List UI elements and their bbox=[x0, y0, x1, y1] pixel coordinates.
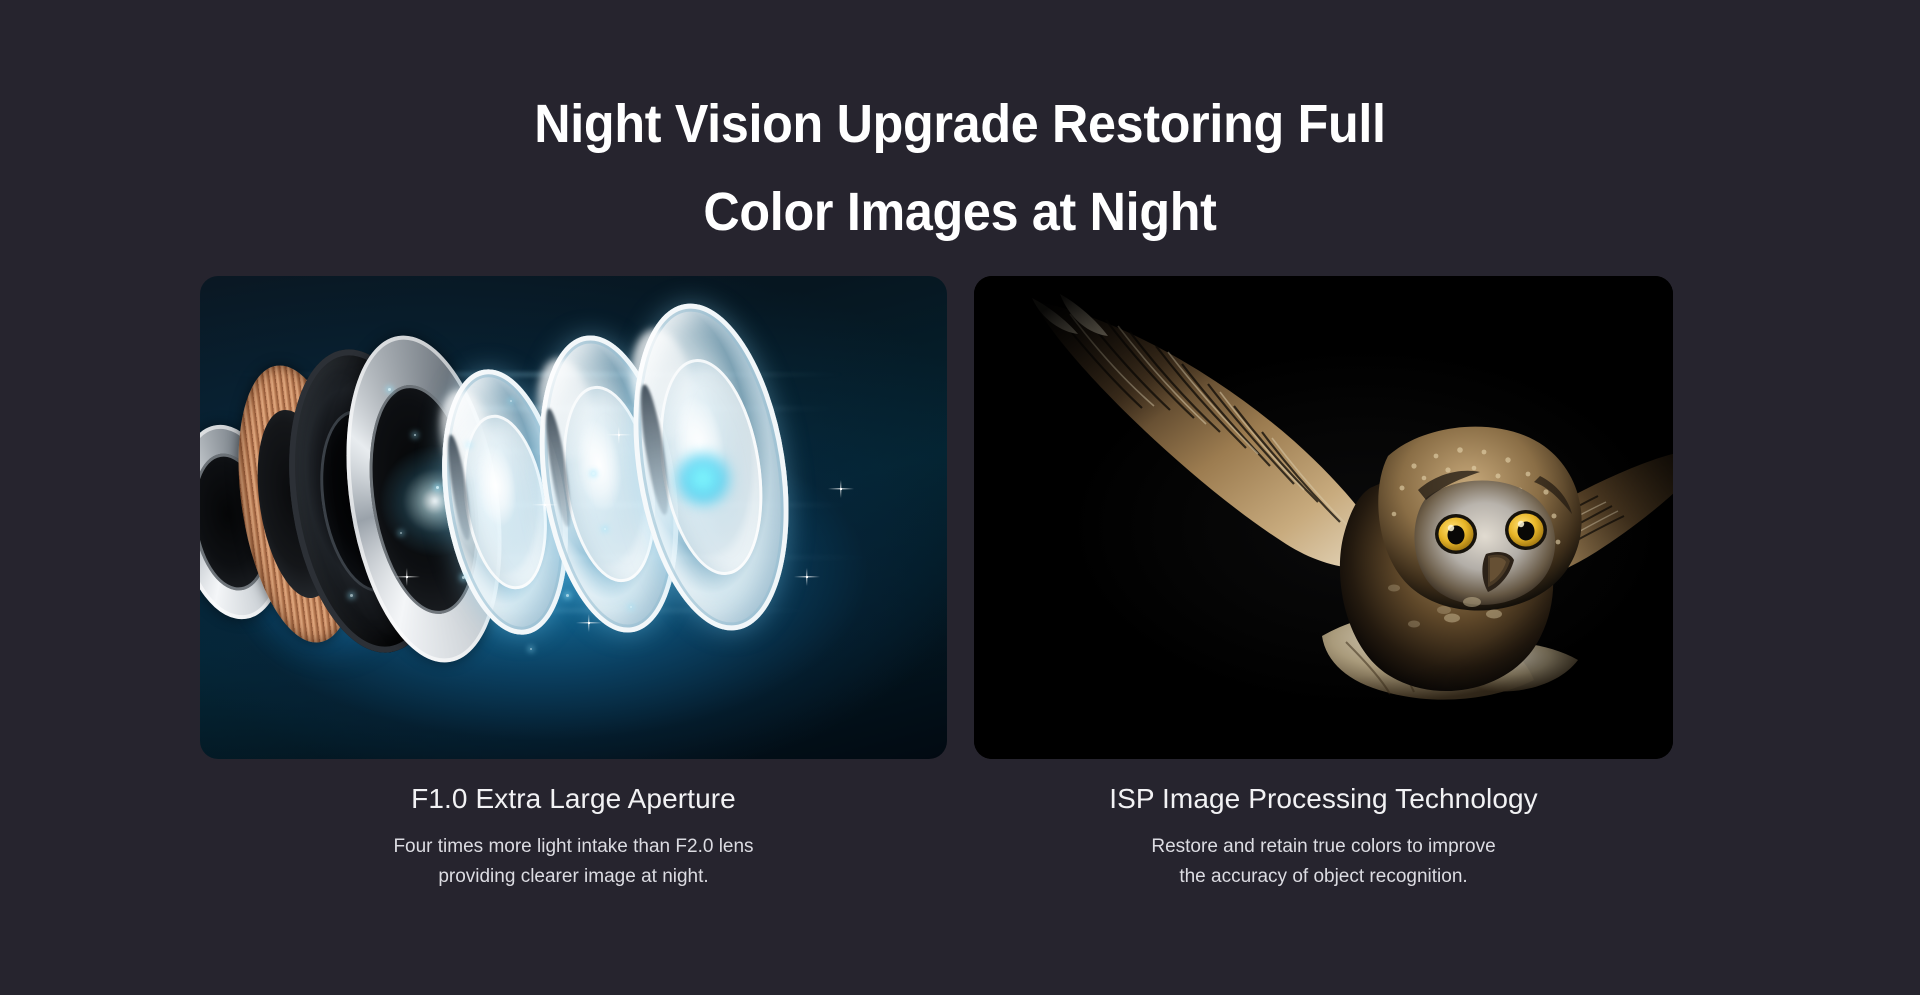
caption-description: Restore and retain true colors to improv… bbox=[974, 832, 1673, 892]
lens-scene-background bbox=[200, 276, 947, 759]
sparkle-star bbox=[588, 622, 590, 624]
sparkle-star bbox=[806, 576, 808, 578]
feature-card-row bbox=[200, 276, 1673, 759]
cyan-light-spot bbox=[670, 448, 736, 510]
sparkle-star bbox=[544, 504, 546, 506]
owl-scene-background bbox=[974, 276, 1673, 759]
feature-card-aperture bbox=[200, 276, 947, 759]
caption-isp: ISP Image Processing Technology Restore … bbox=[974, 780, 1673, 900]
caption-description: Four times more light intake than F2.0 l… bbox=[200, 832, 947, 892]
sparkle-star bbox=[618, 434, 620, 436]
caption-aperture: F1.0 Extra Large Aperture Four times mor… bbox=[200, 780, 947, 900]
feature-caption-row: F1.0 Extra Large Aperture Four times mor… bbox=[200, 780, 1673, 900]
night-vision-feature-section: Night Vision Upgrade Restoring Full Colo… bbox=[0, 0, 1920, 995]
owl-in-flight-photo bbox=[974, 276, 1673, 759]
caption-title: ISP Image Processing Technology bbox=[974, 780, 1673, 818]
sparkle-star bbox=[840, 488, 842, 490]
caption-title: F1.0 Extra Large Aperture bbox=[200, 780, 947, 818]
camera-lens-elements-photo bbox=[200, 276, 947, 759]
feature-card-isp bbox=[974, 276, 1673, 759]
owl-illustration bbox=[974, 276, 1673, 759]
sparkle-star bbox=[406, 576, 408, 578]
page-title: Night Vision Upgrade Restoring Full Colo… bbox=[67, 80, 1853, 256]
